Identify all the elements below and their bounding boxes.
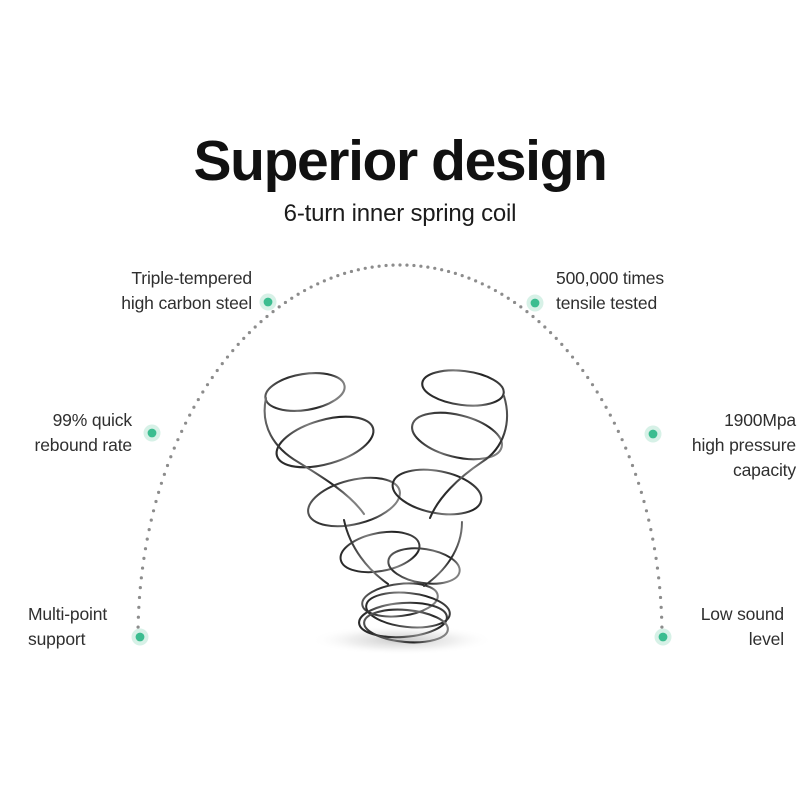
arc-dot (290, 297, 293, 300)
arc-dot (310, 285, 313, 288)
arc-dot (201, 390, 204, 393)
feature-label-high-pressure-capacity: 1900Mpa high pressure capacity (668, 408, 796, 483)
arc-dot (152, 509, 155, 512)
arc-dot (206, 383, 209, 386)
arc-dot (467, 277, 470, 280)
arc-dot (141, 566, 144, 569)
arc-dot (192, 406, 195, 409)
arc-dot (525, 310, 528, 313)
arc-dot (624, 447, 627, 450)
arc-dot (576, 362, 579, 365)
feature-marker-tensile[interactable] (527, 295, 544, 312)
feature-label-low-sound-level: Low sound level (672, 602, 784, 652)
page-subtitle: 6-turn inner spring coil (0, 201, 800, 227)
arc-dot (142, 557, 145, 560)
arc-dot (461, 274, 464, 277)
arc-dot (581, 369, 584, 372)
arc-dot (660, 635, 663, 638)
coil-turn-3b (389, 463, 485, 521)
arc-dot (316, 282, 319, 285)
arc-dot (398, 263, 401, 266)
arc-dot (405, 264, 408, 267)
arc-dot (297, 293, 300, 296)
marker-dot (264, 298, 273, 307)
arc-dot (642, 500, 645, 503)
arc-dot (617, 430, 620, 433)
arc-dot (481, 282, 484, 285)
arc-dot (211, 376, 214, 379)
coil-turn-1 (263, 368, 348, 416)
arc-dot (657, 576, 660, 579)
arc-dot (329, 277, 332, 280)
arc-dot (645, 509, 648, 512)
marker-dot (148, 429, 157, 438)
arc-dot (543, 325, 546, 328)
heading-block: Superior design 6-turn inner spring coil (0, 132, 800, 228)
arc-dot (150, 519, 153, 522)
arc-dot (144, 547, 147, 550)
arc-dot (166, 464, 169, 467)
arc-dot (350, 270, 353, 273)
arc-dot (163, 473, 166, 476)
arc-dot (323, 279, 326, 282)
arc-dot (621, 438, 624, 441)
marker-halo (645, 426, 662, 443)
spring-coil-svg (258, 352, 542, 658)
arc-dot (659, 596, 662, 599)
arc-dot (555, 337, 558, 340)
marker-dot (649, 430, 658, 439)
feature-marker-pressure[interactable] (645, 426, 662, 443)
arc-dot (637, 482, 640, 485)
arc-dot (265, 315, 268, 318)
arc-dot (647, 519, 650, 522)
arc-dot (519, 305, 522, 308)
arc-dot (173, 447, 176, 450)
arc-dot (419, 265, 422, 268)
arc-dot (139, 586, 142, 589)
arc-dot (447, 270, 450, 273)
arc-dot (138, 596, 141, 599)
arc-dot (216, 369, 219, 372)
arc-dot (180, 430, 183, 433)
arc-dot (658, 586, 661, 589)
arc-dot (157, 491, 160, 494)
arc-dot (631, 464, 634, 467)
arc-dot (184, 422, 187, 425)
marker-dot (531, 299, 540, 308)
feature-label-tensile-tested: 500,000 times tensile tested (556, 266, 776, 316)
arc-dot (284, 301, 287, 304)
arc-dot (226, 355, 229, 358)
arc-dot (242, 337, 245, 340)
arc-dot (176, 438, 179, 441)
arc-dot (591, 383, 594, 386)
marker-halo (527, 295, 544, 312)
arc-dot (586, 376, 589, 379)
arc-dot (154, 500, 157, 503)
arc-dot (513, 301, 516, 304)
coil-connector-right (430, 396, 507, 518)
arc-dot (560, 343, 563, 346)
arc-dot (343, 272, 346, 275)
arc-dot (531, 315, 534, 318)
arc-dot (653, 547, 656, 550)
arc-dot (604, 406, 607, 409)
arc-dot (660, 626, 663, 629)
arc-dot (628, 455, 631, 458)
arc-dot (188, 414, 191, 417)
arc-dot (412, 264, 415, 267)
arc-dot (221, 362, 224, 365)
coil-connector-mid (344, 520, 388, 584)
arc-dot (384, 264, 387, 267)
arc-dot (507, 297, 510, 300)
marker-dot (659, 633, 668, 642)
arc-dot (357, 268, 360, 271)
arc-dot (160, 482, 163, 485)
feature-label-triple-tempered-high-carbon-steel: Triple-tempered high carbon steel (40, 266, 252, 316)
arc-dot (660, 616, 663, 619)
arc-dot (148, 528, 151, 531)
coil-turn-2 (271, 407, 379, 477)
arc-dot (278, 305, 281, 308)
arc-dot (169, 455, 172, 458)
feature-label-quick-rebound-rate: 99% quick rebound rate (0, 408, 132, 458)
arc-dot (651, 538, 654, 541)
arc-dot (237, 343, 240, 346)
arc-dot (378, 265, 381, 268)
arc-dot (440, 268, 443, 271)
arc-dot (656, 566, 659, 569)
feature-label-multi-point-support: Multi-point support (28, 602, 158, 652)
feature-marker-sound[interactable] (655, 629, 672, 646)
coil-turn-4 (337, 526, 423, 579)
arc-dot (248, 331, 251, 334)
arc-dot (654, 557, 657, 560)
coil-turn-2b (407, 404, 506, 467)
feature-marker-steel[interactable] (260, 294, 277, 311)
arc-dot (336, 274, 339, 277)
arc-dot (426, 266, 429, 269)
marker-halo (655, 629, 672, 646)
arc-dot (371, 266, 374, 269)
arc-dot (640, 491, 643, 494)
page-title: Superior design (0, 132, 800, 190)
coil-turn-1b (420, 366, 506, 410)
arc-dot (140, 576, 143, 579)
arc-dot (231, 349, 234, 352)
arc-dot (566, 349, 569, 352)
infographic-canvas: Superior design 6-turn inner spring coil (0, 0, 800, 800)
inner-spring-coil-illustration (258, 352, 542, 658)
arc-dot (454, 272, 457, 275)
arc-dot (500, 293, 503, 296)
arc-dot (259, 320, 262, 323)
arc-dot (364, 267, 367, 270)
arc-dot (146, 538, 149, 541)
arc-dot (494, 289, 497, 292)
arc-dot (487, 285, 490, 288)
arc-dot (613, 422, 616, 425)
arc-dot (271, 310, 274, 313)
arc-dot (391, 264, 394, 267)
arc-dot (433, 267, 436, 270)
arc-dot (649, 528, 652, 531)
arc-dot (660, 606, 663, 609)
arc-dot (571, 355, 574, 358)
arc-dot (537, 320, 540, 323)
arc-dot (634, 473, 637, 476)
arc-dot (303, 289, 306, 292)
arc-dot (254, 325, 257, 328)
marker-halo (260, 294, 277, 311)
arc-dot (600, 398, 603, 401)
arc-dot (474, 279, 477, 282)
feature-marker-rebound[interactable] (144, 425, 161, 442)
arc-dot (609, 414, 612, 417)
arc-dot (549, 331, 552, 334)
spring-shadow (310, 625, 494, 655)
arc-dot (197, 398, 200, 401)
marker-halo (144, 425, 161, 442)
arc-dot (596, 390, 599, 393)
